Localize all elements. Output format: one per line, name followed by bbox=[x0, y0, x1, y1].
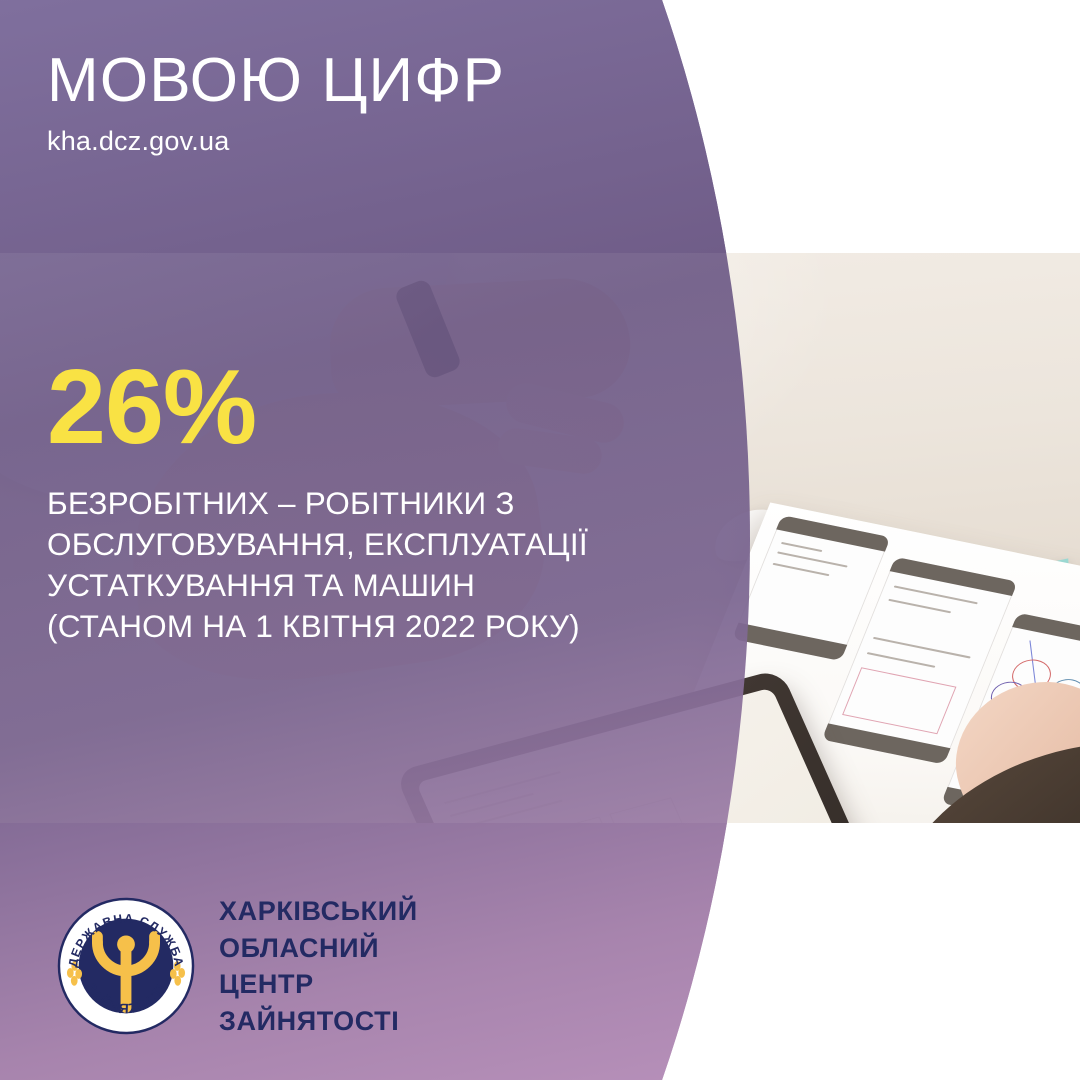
statistic-value: 26% bbox=[47, 355, 588, 459]
organization-name-line: ОБЛАСНИЙ bbox=[219, 930, 418, 967]
statistic-caption: БЕЗРОБІТНИХ – РОБІТНИКИ З ОБСЛУГОВУВАННЯ… bbox=[47, 483, 588, 647]
statistic-caption-line: ОБСЛУГОВУВАННЯ, ЕКСПЛУАТАЦІЇ bbox=[47, 524, 588, 565]
logo-emblem-icon: ДЕРЖАВНА СЛУЖБА ЗАЙНЯТОСТІ bbox=[57, 897, 195, 1035]
footer: ДЕРЖАВНА СЛУЖБА ЗАЙНЯТОСТІ ХАРКІВСЬКИЙ О… bbox=[57, 893, 418, 1039]
poster-canvas: МОВОЮ ЦИФР kha.dcz.gov.ua 26% БЕЗРОБІТНИ… bbox=[0, 0, 1080, 1080]
organization-name-line: ХАРКІВСЬКИЙ bbox=[219, 893, 418, 930]
statistic-caption-line: БЕЗРОБІТНИХ – РОБІТНИКИ З bbox=[47, 483, 588, 524]
header: МОВОЮ ЦИФР kha.dcz.gov.ua bbox=[47, 48, 505, 156]
statistic-block: 26% БЕЗРОБІТНИХ – РОБІТНИКИ З ОБСЛУГОВУВ… bbox=[47, 355, 588, 647]
statistic-caption-line: УСТАТКУВАННЯ ТА МАШИН bbox=[47, 565, 588, 606]
organization-name: ХАРКІВСЬКИЙ ОБЛАСНИЙ ЦЕНТР ЗАЙНЯТОСТІ bbox=[219, 893, 418, 1039]
organization-name-line: ЦЕНТР bbox=[219, 966, 418, 1003]
page-title: МОВОЮ ЦИФР bbox=[47, 48, 505, 114]
statistic-caption-line: (СТАНОМ НА 1 КВІТНЯ 2022 РОКУ) bbox=[47, 606, 588, 647]
organization-name-line: ЗАЙНЯТОСТІ bbox=[219, 1003, 418, 1040]
employment-service-logo: ДЕРЖАВНА СЛУЖБА ЗАЙНЯТОСТІ bbox=[57, 897, 195, 1035]
site-url[interactable]: kha.dcz.gov.ua bbox=[47, 126, 505, 156]
